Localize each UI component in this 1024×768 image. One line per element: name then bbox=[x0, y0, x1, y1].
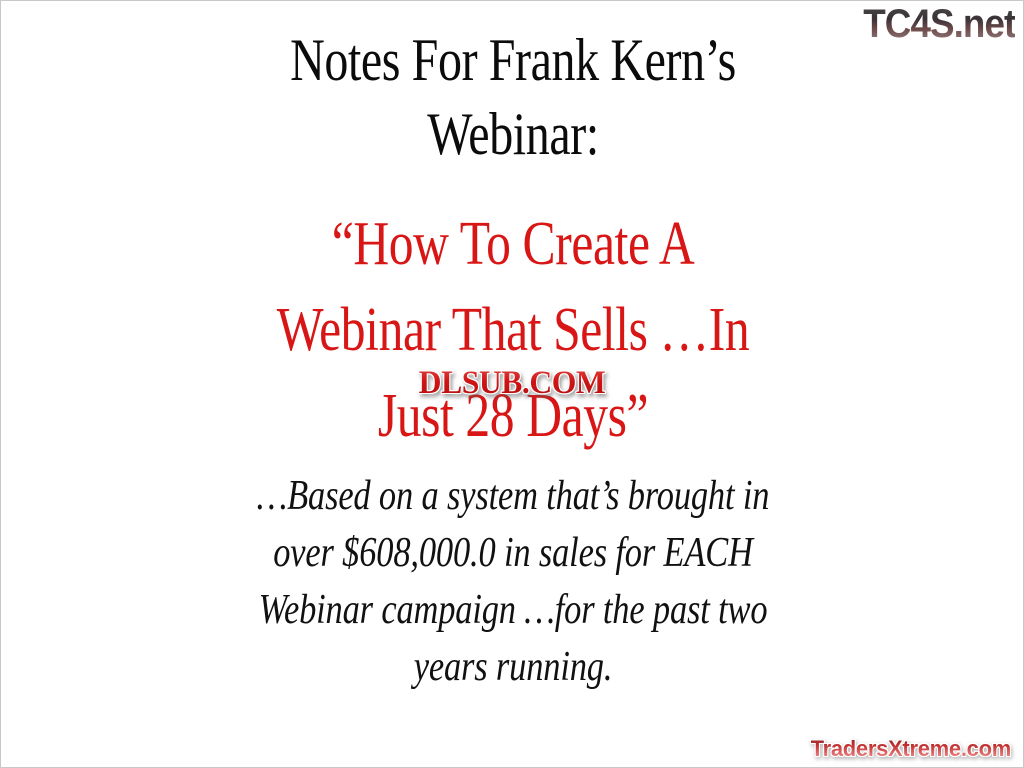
watermark-tc4s: TC4S.net bbox=[863, 3, 1015, 45]
subtext-line-2: over $608,000.0 in sales for EACH bbox=[93, 525, 933, 582]
subtext: …Based on a system that’s brought in ove… bbox=[93, 468, 933, 696]
title-line-1: Notes For Frank Kern’s bbox=[103, 23, 922, 97]
watermark-dlsub: DLSUB.COM bbox=[419, 365, 606, 401]
title-line-2: Webinar: bbox=[103, 97, 922, 171]
subtext-line-1: …Based on a system that’s brought in bbox=[93, 468, 933, 525]
headline-line-1: “How To Create A bbox=[103, 201, 922, 287]
slide-canvas: Notes For Frank Kern’s Webinar: “How To … bbox=[0, 0, 1024, 768]
page-title: Notes For Frank Kern’s Webinar: bbox=[103, 23, 922, 171]
subtext-line-4: years running. bbox=[93, 639, 933, 696]
subtext-line-3: Webinar campaign …for the past two bbox=[93, 582, 933, 639]
headline: “How To Create A Webinar That Sells …In … bbox=[103, 201, 922, 459]
headline-line-2: Webinar That Sells …In bbox=[103, 287, 922, 373]
watermark-tradersxtreme: TradersXtreme.com bbox=[811, 737, 1011, 761]
